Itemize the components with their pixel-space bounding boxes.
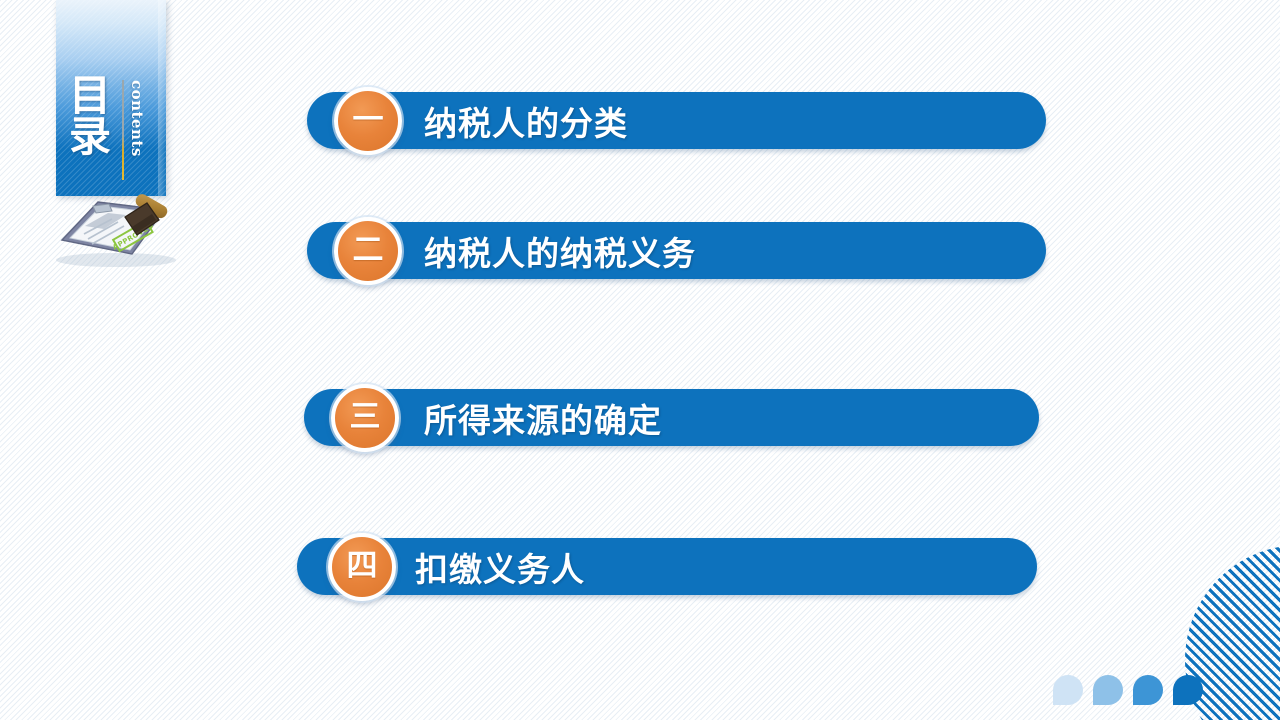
contents-item-3-number: 三 (350, 402, 381, 433)
contents-item-4-number: 四 (347, 551, 378, 582)
contents-item-2-number: 二 (353, 235, 384, 266)
tax-form-clipboard-icon: APPROVED (46, 182, 186, 268)
ribbon-divider-line (122, 80, 124, 180)
contents-item-3[interactable]: 三 所得来源的确定 (304, 389, 1039, 446)
teardrop-3 (1133, 675, 1163, 705)
contents-item-1-number-badge: 一 (334, 87, 402, 155)
contents-item-2-label: 纳税人的纳税义务 (424, 227, 696, 275)
contents-item-2-number-badge: 二 (334, 217, 402, 285)
contents-item-2[interactable]: 二 纳税人的纳税义务 (307, 222, 1046, 279)
contents-item-4[interactable]: 四 扣缴义务人 (297, 538, 1037, 595)
contents-item-4-number-badge: 四 (328, 533, 396, 601)
contents-item-1[interactable]: 一 纳税人的分类 (307, 92, 1046, 149)
contents-item-4-label: 扣缴义务人 (415, 543, 585, 591)
contents-item-1-number: 一 (353, 105, 384, 136)
slide-canvas: 目录 contents (0, 0, 1280, 720)
teardrop-2 (1093, 675, 1123, 705)
ribbon-title-chinese: 目录 (69, 76, 115, 157)
contents-item-1-label: 纳税人的分类 (424, 97, 628, 145)
teardrop-1 (1053, 675, 1083, 705)
contents-item-3-label: 所得来源的确定 (424, 394, 662, 442)
teardrop-4 (1173, 675, 1203, 705)
contents-item-3-number-badge: 三 (331, 384, 399, 452)
ribbon-title-english: contents (128, 80, 146, 157)
teardrop-decoration-row (1053, 675, 1203, 705)
